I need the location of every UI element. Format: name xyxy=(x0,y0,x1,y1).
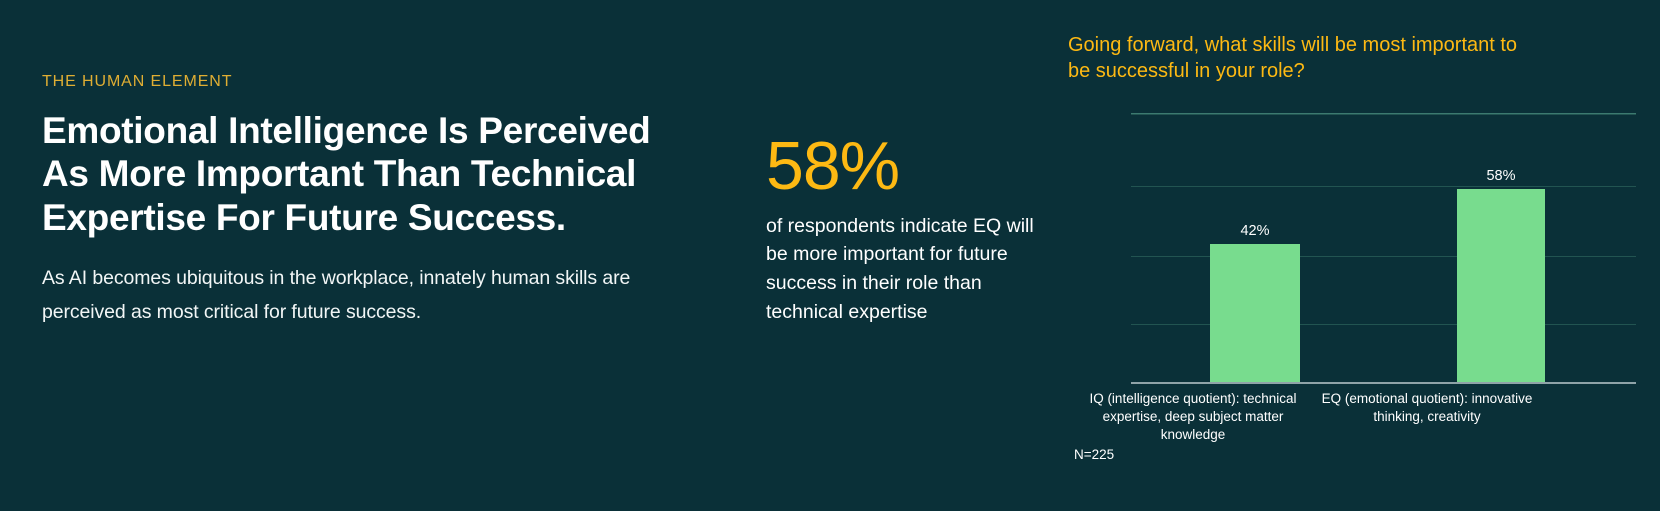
stat-big-number: 58% xyxy=(766,135,1046,198)
gridline xyxy=(1131,256,1636,257)
bar-chart-plot-area: 42% 58% xyxy=(1131,114,1636,384)
chart-panel: Going forward, what skills will be most … xyxy=(1068,32,1636,482)
section-eyebrow-label: THE HUMAN ELEMENT xyxy=(42,72,702,91)
category-label-eq: EQ (emotional quotient): innovative thin… xyxy=(1319,390,1535,426)
gridline xyxy=(1131,324,1636,325)
bar-iq[interactable] xyxy=(1210,244,1300,382)
chart-question-title: Going forward, what skills will be most … xyxy=(1068,32,1538,85)
page-title: Emotional Intelligence Is Perceived As M… xyxy=(42,109,702,239)
x-axis-line xyxy=(1131,382,1636,384)
left-content-column: THE HUMAN ELEMENT Emotional Intelligence… xyxy=(42,72,702,330)
sample-size-note: N=225 xyxy=(1074,447,1114,462)
bar-value-iq: 42% xyxy=(1210,223,1300,239)
subtitle-text: As AI becomes ubiquitous in the workplac… xyxy=(42,262,702,330)
infographic-slide: THE HUMAN ELEMENT Emotional Intelligence… xyxy=(0,0,1660,511)
bar-value-eq: 58% xyxy=(1457,168,1545,184)
stat-description: of respondents indicate EQ will be more … xyxy=(766,212,1046,327)
gridline xyxy=(1131,114,1636,115)
category-label-iq: IQ (intelligence quotient): technical ex… xyxy=(1085,390,1301,445)
stat-callout: 58% of respondents indicate EQ will be m… xyxy=(766,135,1046,327)
gridline xyxy=(1131,186,1636,187)
bar-eq[interactable] xyxy=(1457,189,1545,382)
